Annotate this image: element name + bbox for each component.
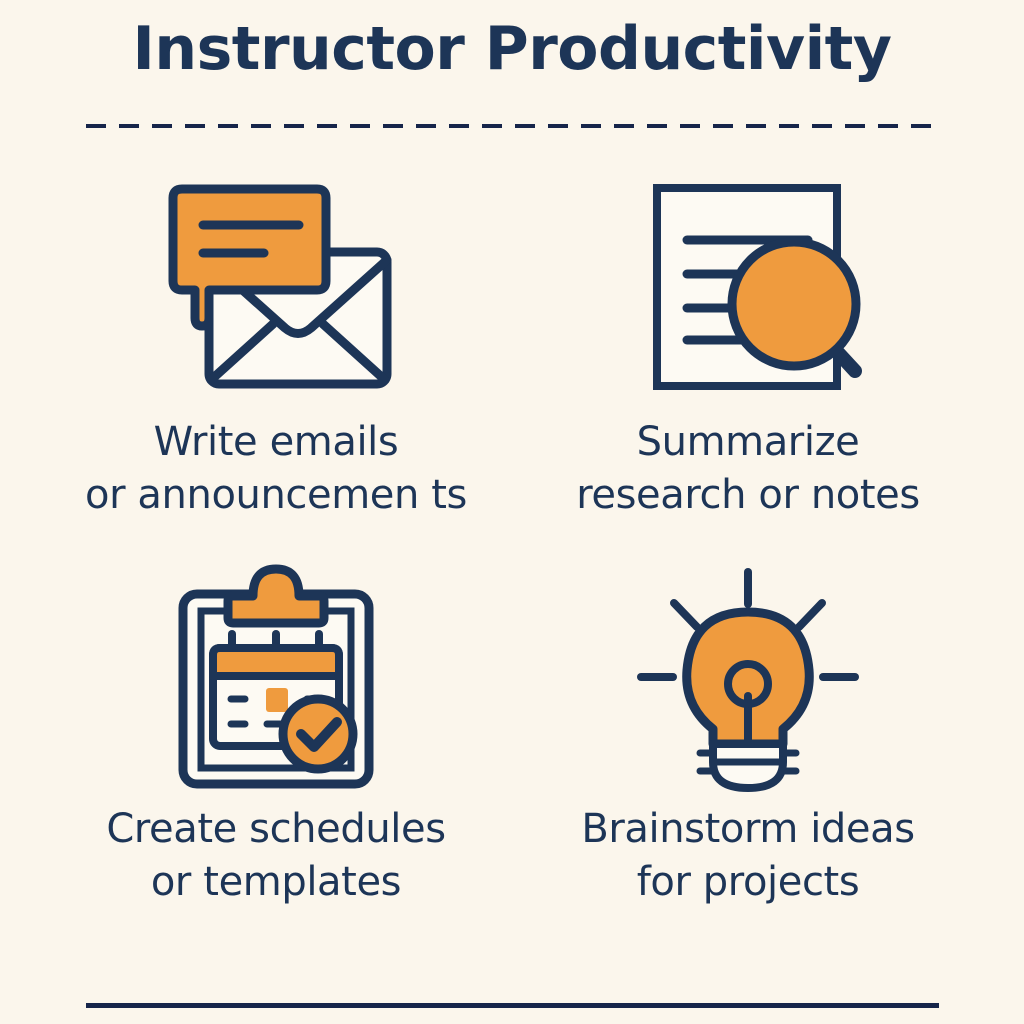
infographic-poster: Instructor Productivity — [0, 0, 1024, 1024]
card-caption: Summarize research or notes — [576, 416, 920, 522]
caption-line-2: research or notes — [576, 469, 920, 522]
clipboard-calendar-check-icon — [151, 565, 401, 797]
card-create-schedules[interactable]: Create schedules or templates — [40, 565, 512, 960]
caption-line-2: or announcemen ts — [85, 469, 467, 522]
caption-line-1: Summarize — [576, 416, 920, 469]
card-write-emails[interactable]: Write emails or announcemen ts — [40, 170, 512, 565]
caption-line-1: Create schedules — [106, 803, 445, 856]
page-title: Instructor Productivity — [0, 14, 1024, 84]
card-caption: Brainstorm ideas for projects — [581, 803, 914, 909]
card-brainstorm-ideas[interactable]: Brainstorm ideas for projects — [512, 565, 984, 960]
caption-line-2: for projects — [581, 856, 914, 909]
bottom-divider — [86, 1003, 939, 1008]
card-caption: Create schedules or templates — [106, 803, 445, 909]
caption-line-2: or templates — [106, 856, 445, 909]
caption-line-1: Write emails — [85, 416, 467, 469]
card-grid: Write emails or announcemen ts — [40, 170, 984, 960]
document-magnifier-icon — [623, 170, 873, 410]
dashed-divider — [86, 124, 939, 128]
card-caption: Write emails or announcemen ts — [85, 416, 467, 522]
caption-line-1: Brainstorm ideas — [581, 803, 914, 856]
card-summarize-research[interactable]: Summarize research or notes — [512, 170, 984, 565]
lightbulb-icon — [623, 565, 873, 797]
email-speech-bubble-icon — [151, 170, 401, 410]
